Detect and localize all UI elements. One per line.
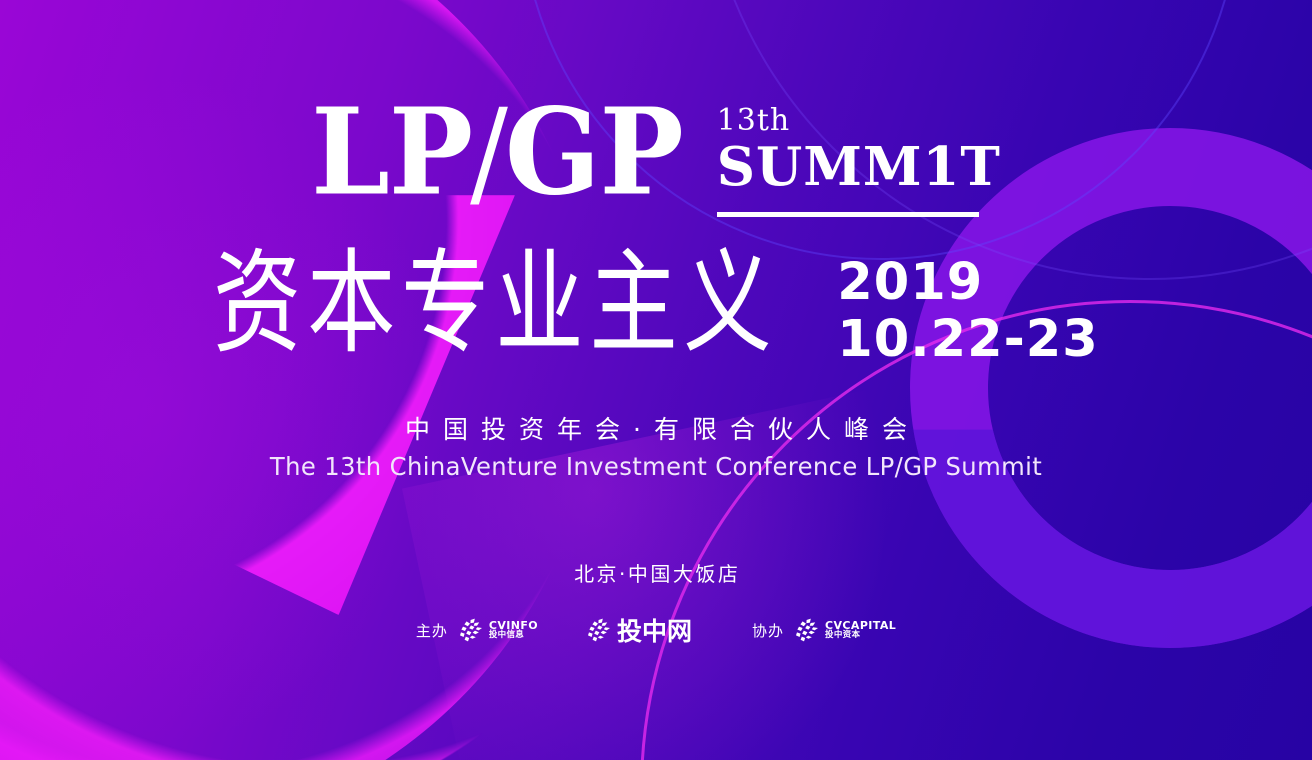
logo-touzhongwang: 投中网 [586,612,692,648]
venue-text: 北京·中国大饭店 [0,558,1312,587]
event-year: 2019 [837,254,983,311]
cvcapital-cn: 投中资本 [825,631,896,640]
edition-ordinal: 13th [717,106,791,136]
coorganizer-role-label: 协办 [752,620,784,641]
event-date-range: 10.22-23 [837,311,1098,368]
subtitle-chinese: 中国投资年会·有限合伙人峰会 [0,410,1312,446]
date-block: 2019 10.22-23 [837,254,1098,368]
cvinfo-cn: 投中信息 [489,631,538,640]
cvcapital-logotype: CVCAPITAL 投中资本 [825,620,896,640]
subtitle-english: The 13th ChinaVenture Investment Confere… [20,452,1293,481]
host-sponsor-group: 主办 [416,612,692,648]
poster-content: LP/GP 13th SUMM1T 资本专业主义 2019 10.22-23 中… [0,0,1312,760]
gp-text: GP [505,83,683,222]
touzhongwang-logotype: 投中网 [617,612,692,648]
host-role-label: 主办 [416,620,448,641]
cv-burst-icon [586,618,612,642]
second-row: 资本专业主义 2019 10.22-23 [0,248,1312,368]
logo-cvinfo: CVINFO 投中信息 [458,618,538,642]
conference-poster: LP/GP 13th SUMM1T 资本专业主义 2019 10.22-23 中… [0,0,1312,760]
lp-text: LP [311,83,472,222]
chinese-main-title: 资本专业主义 [213,248,777,360]
slash-text: / [470,84,507,222]
logo-cvcapital: CVCAPITAL 投中资本 [794,618,896,642]
cvinfo-logotype: CVINFO 投中信息 [489,620,538,640]
summit-underline-rule [717,212,979,217]
summit-block: 13th SUMM1T [717,106,1001,217]
sponsor-row: 主办 [0,612,1312,648]
lpgp-wordmark: LP/GP [311,98,683,208]
cv-burst-icon [794,618,820,642]
coorganizer-sponsor-group: 协办 [752,618,896,642]
headline-row: LP/GP 13th SUMM1T [0,98,1312,217]
summit-wordmark: SUMM1T [717,140,1001,196]
cv-burst-icon [458,618,484,642]
